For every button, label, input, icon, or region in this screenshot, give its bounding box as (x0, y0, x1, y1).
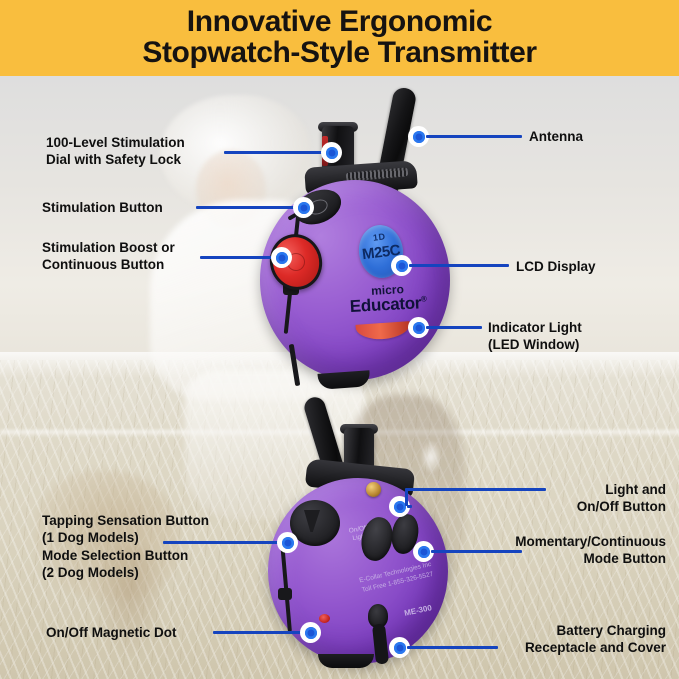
header-banner: Innovative Ergonomic Stopwatch-Style Tra… (0, 0, 679, 76)
callout-stim-dial-line (224, 151, 334, 154)
callout-antenna-label: Antenna (529, 128, 669, 145)
callout-stim-button-dot[interactable] (293, 197, 314, 218)
callout-stim-dial-label: 100-Level Stimulation Dial with Safety L… (46, 134, 246, 169)
callout-magnetic-dot[interactable] (300, 622, 321, 643)
callout-light-onoff-line-v (407, 505, 412, 508)
callout-tapping-line (163, 541, 287, 544)
callout-tapping-label: Tapping Sensation Button (1 Dog Models) … (42, 512, 272, 581)
callout-stim-button-label: Stimulation Button (42, 199, 222, 216)
callout-stim-dial-dot[interactable] (321, 142, 342, 163)
callout-indicator-label: Indicator Light (LED Window) (488, 319, 668, 354)
banner-title-line2: Stopwatch-Style Transmitter (142, 38, 536, 69)
banner-title-line1: Innovative Ergonomic (187, 7, 492, 38)
transmitter-front-view: 1D M25C micro Educator® (250, 86, 465, 386)
brand-logo: micro Educator® (339, 282, 436, 318)
callout-lcd-line (409, 264, 509, 267)
callout-stim-boost-dot[interactable] (271, 247, 292, 268)
antenna-screw-icon (366, 482, 381, 497)
onoff-magnetic-dot (319, 614, 330, 623)
callout-antenna-line (426, 135, 522, 138)
callout-light-onoff-label: Light and On/Off Button (486, 481, 666, 516)
callout-magnetic-line (213, 631, 311, 634)
callout-stim-button-line (196, 206, 306, 209)
device-base-back (318, 654, 374, 668)
callout-lcd-label: LCD Display (516, 258, 666, 275)
lanyard-clip-back (278, 588, 292, 600)
callout-indicator-line (426, 326, 482, 329)
callout-stim-boost-line (200, 256, 282, 259)
callout-momentary-label: Momentary/Continuous Mode Button (446, 533, 666, 568)
infographic-page: Innovative Ergonomic Stopwatch-Style Tra… (0, 0, 679, 679)
callout-battery-label: Battery Charging Receptacle and Cover (448, 622, 666, 657)
callout-tapping-dot[interactable] (277, 532, 298, 553)
callout-light-onoff-riser (405, 490, 408, 506)
transmitter-back-view: On/Off Light E-Collar Technologies Inc T… (262, 392, 462, 662)
